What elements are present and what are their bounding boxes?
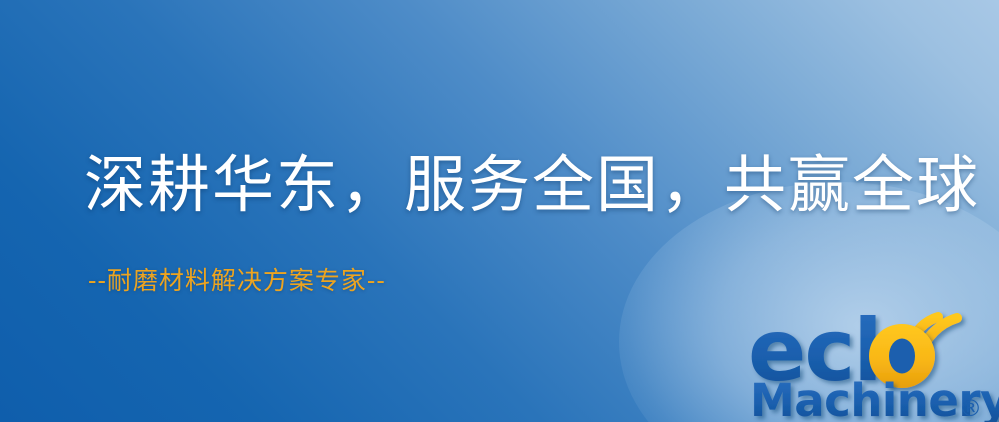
promotional-banner: 深耕华东，服务全国，共赢全球 --耐磨材料解决方案专家-- bbox=[0, 0, 999, 422]
echo-machinery-logo[interactable]: ech Machinery ® bbox=[750, 298, 999, 422]
banner-headline: 深耕华东，服务全国，共赢全球 bbox=[84, 152, 980, 219]
registered-trademark-mark: ® bbox=[959, 396, 982, 422]
banner-subtitle: --耐磨材料解决方案专家-- bbox=[88, 266, 386, 296]
